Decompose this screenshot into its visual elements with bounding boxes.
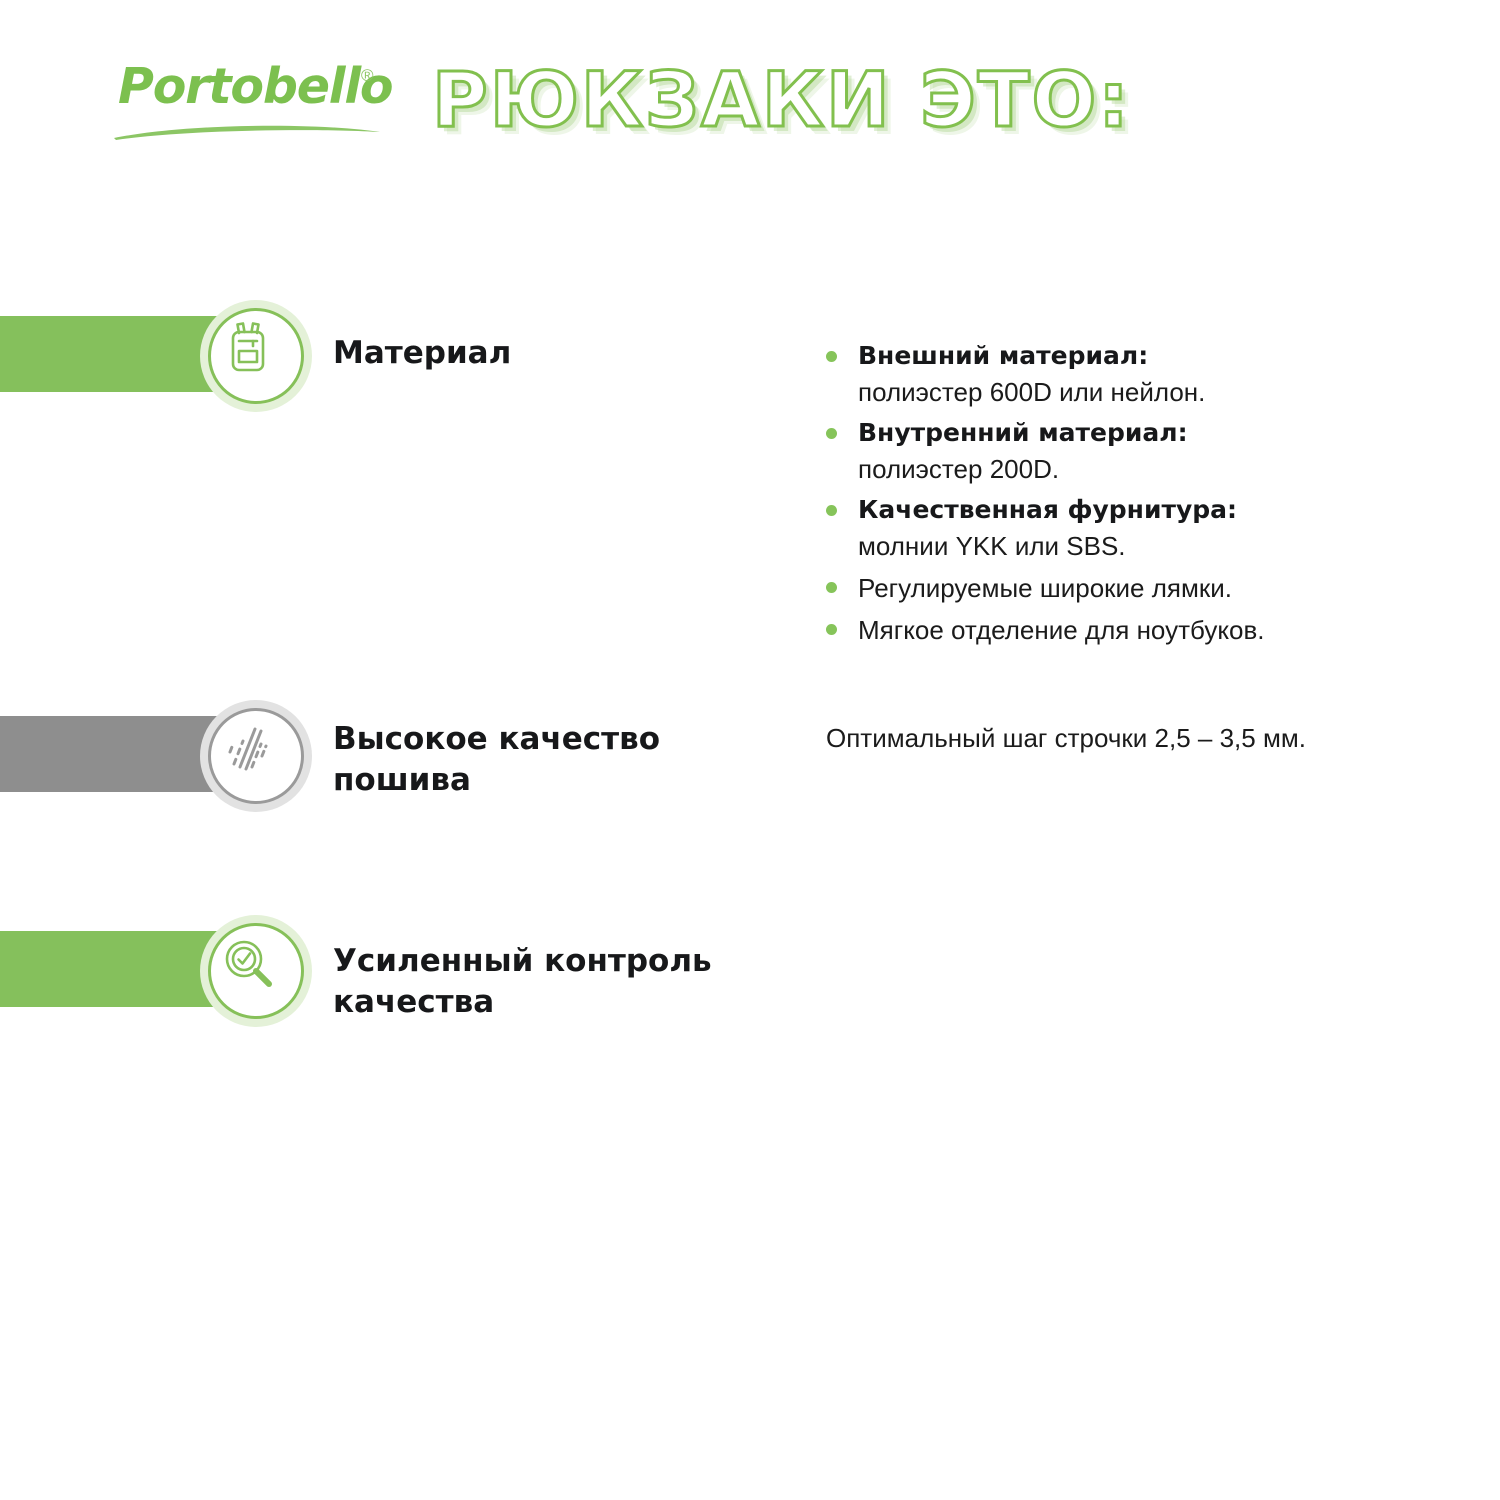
feature-row-quality-control: Усиленный контроль качества [0, 915, 1500, 1033]
bullet-dot-icon [826, 624, 837, 635]
bullet-dot-icon [826, 351, 837, 362]
brand-logo: Portobello ® [118, 62, 388, 148]
feature-badge-quality-control [200, 915, 312, 1027]
bullet-title: Качественная фурнитура: [858, 492, 1446, 528]
material-bullet-list: Внешний материал: полиэстер 600D или ней… [826, 338, 1446, 653]
list-item: Качественная фурнитура: молнии YKK или S… [826, 492, 1446, 565]
magnifier-check-icon [220, 935, 276, 991]
list-item: Регулируемые широкие лямки. [826, 569, 1446, 607]
feature-badge-material [200, 300, 312, 412]
feature-badge-sewing-quality [200, 700, 312, 812]
backpack-icon [220, 320, 276, 376]
bullet-dot-icon [826, 582, 837, 593]
swoosh-icon [112, 118, 384, 142]
logo-wordmark: Portobello [118, 62, 388, 111]
feature-label-quality-control: Усиленный контроль качества [333, 941, 712, 1023]
feature-label-sewing-quality: Высокое качество пошива [333, 719, 660, 801]
bullet-title: Внутренний материал: [858, 415, 1446, 451]
list-item: Внутренний материал: полиэстер 200D. [826, 415, 1446, 488]
stitching-icon [220, 720, 276, 776]
bullet-subtitle: полиэстер 600D или нейлон. [858, 374, 1446, 411]
bullet-subtitle: молнии YKK или SBS. [858, 528, 1446, 565]
bullet-text: Мягкое отделение для ноутбуков. [858, 611, 1446, 649]
bullet-title: Внешний материал: [858, 338, 1446, 374]
bullet-dot-icon [826, 505, 837, 516]
bullet-subtitle: полиэстер 200D. [858, 451, 1446, 488]
page-header: Portobello ® РЮКЗАКИ ЭТО: [0, 0, 1500, 180]
page-title: РЮКЗАКИ ЭТО: [432, 52, 1192, 156]
list-item: Мягкое отделение для ноутбуков. [826, 611, 1446, 649]
bullet-text: Регулируемые широкие лямки. [858, 569, 1446, 607]
page-title-text: РЮКЗАКИ ЭТО: [432, 52, 1192, 148]
bullet-dot-icon [826, 428, 837, 439]
sewing-quality-note: Оптимальный шаг строчки 2,5 – 3,5 мм. [826, 720, 1466, 756]
list-item: Внешний материал: полиэстер 600D или ней… [826, 338, 1446, 411]
registered-trademark-icon: ® [361, 66, 374, 86]
feature-label-material: Материал [333, 333, 511, 374]
